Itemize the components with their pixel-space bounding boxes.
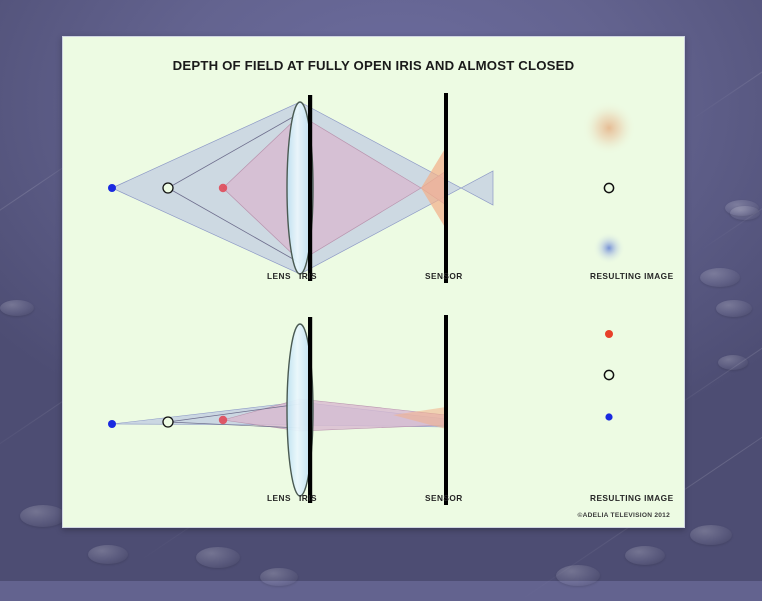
wallpaper-streak — [700, 105, 762, 251]
result-sharp-red-bottom — [605, 330, 613, 338]
sensor-plane-top — [444, 93, 448, 283]
raytrace-svg-top — [63, 85, 684, 290]
label-iris-top: IRIS — [299, 271, 317, 281]
wallpaper-bead — [716, 300, 752, 317]
wallpaper-bead — [718, 355, 748, 370]
result-sharp-circle-top — [604, 183, 613, 192]
wallpaper-bead — [88, 545, 128, 564]
object-point-far-blue-bottom — [108, 420, 116, 428]
wallpaper-bead — [260, 568, 298, 586]
result-blur-orange-top — [582, 101, 636, 155]
wallpaper-bead — [700, 268, 740, 287]
label-lens-bottom: LENS — [267, 493, 291, 503]
result-sharp-circle-bottom — [604, 370, 613, 379]
object-point-near-red-bottom — [219, 416, 227, 424]
wallpaper-bead — [730, 206, 760, 220]
optical-stage-bottom — [63, 307, 684, 512]
iris-aperture-top — [308, 95, 312, 281]
result-sharp-blue-bottom — [605, 413, 612, 420]
result-blur-blue-top — [593, 232, 625, 264]
object-point-near-red-top — [219, 184, 227, 192]
sensor-plane-bottom — [444, 315, 448, 505]
label-result-bottom: RESULTING IMAGE — [590, 493, 674, 503]
diagram-almost-closed-iris: LENS IRIS SENSOR RESULTING IMAGE — [63, 307, 684, 512]
diagram-fully-open-iris: LENS IRIS SENSOR RESULTING IMAGE — [63, 85, 684, 290]
wallpaper-bead — [625, 546, 665, 565]
object-point-focus-hollow-top — [163, 183, 173, 193]
iris-aperture-bottom — [308, 317, 312, 503]
wallpaper-bead — [20, 505, 66, 527]
label-lens-top: LENS — [267, 271, 291, 281]
optical-stage-top — [63, 85, 684, 290]
object-point-far-blue-top — [108, 184, 116, 192]
raytrace-svg-bottom — [63, 307, 684, 512]
wallpaper-bead — [196, 547, 240, 568]
label-sensor-bottom: SENSOR — [425, 493, 463, 503]
page-title: DEPTH OF FIELD AT FULLY OPEN IRIS AND AL… — [63, 58, 684, 73]
object-point-focus-hollow-bottom — [163, 417, 173, 427]
beam-orange-spread-top — [421, 147, 446, 229]
wallpaper-streak — [690, 8, 762, 121]
label-result-top: RESULTING IMAGE — [590, 271, 674, 281]
slide-panel: DEPTH OF FIELD AT FULLY OPEN IRIS AND AL… — [62, 36, 685, 528]
label-sensor-top: SENSOR — [425, 271, 463, 281]
wallpaper-bead — [556, 565, 600, 586]
label-iris-bottom: IRIS — [299, 493, 317, 503]
wallpaper-bead — [690, 525, 732, 545]
copyright-notice: ©ADELIA TELEVISION 2012 — [578, 512, 670, 519]
wallpaper-bead — [0, 300, 34, 316]
